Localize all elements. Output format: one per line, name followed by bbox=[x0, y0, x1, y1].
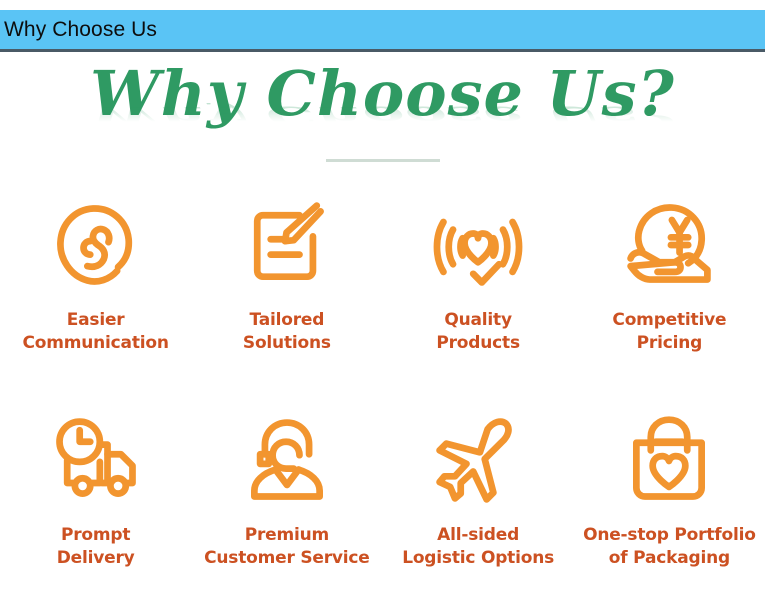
feature-item-competitive-pricing[interactable]: Competitive Pricing bbox=[574, 175, 765, 390]
feature-label: Easier Communication bbox=[22, 309, 168, 354]
feature-label: One-stop Portfolio of Packaging bbox=[583, 524, 756, 569]
ear-in-circle-icon bbox=[44, 193, 148, 297]
hero-section: Why Choose Us? Why Choose Us? bbox=[0, 55, 765, 163]
feature-label: Competitive Pricing bbox=[612, 309, 726, 354]
feature-item-tailored-solutions[interactable]: Tailored Solutions bbox=[191, 175, 382, 390]
feature-item-easier-communication[interactable]: Easier Communication bbox=[0, 175, 191, 390]
heart-signal-check-icon bbox=[426, 193, 530, 297]
headset-person-icon bbox=[235, 408, 339, 512]
window-title: Why Choose Us bbox=[0, 19, 157, 40]
hand-yen-coin-icon bbox=[617, 193, 721, 297]
feature-label: Tailored Solutions bbox=[243, 309, 331, 354]
document-pencil-icon bbox=[235, 193, 339, 297]
feature-item-prompt-delivery[interactable]: Prompt Delivery bbox=[0, 390, 191, 605]
window-header-bar: Why Choose Us bbox=[0, 10, 765, 52]
feature-item-one-stop-portfolio-of-packaging[interactable]: One-stop Portfolio of Packaging bbox=[574, 390, 765, 605]
feature-item-quality-products[interactable]: Quality Products bbox=[383, 175, 574, 390]
feature-label: All-sided Logistic Options bbox=[402, 524, 554, 569]
feature-label: Prompt Delivery bbox=[57, 524, 135, 569]
page-title: Why Choose Us? bbox=[0, 63, 765, 125]
shopping-bag-heart-icon bbox=[617, 408, 721, 512]
feature-label: Premium Customer Service bbox=[204, 524, 370, 569]
feature-item-premium-customer-service[interactable]: Premium Customer Service bbox=[191, 390, 382, 605]
feature-label: Quality Products bbox=[436, 309, 520, 354]
features-grid: Easier Communication Tailored Solutions bbox=[0, 175, 765, 605]
feature-item-all-sided-logistic-options[interactable]: All-sided Logistic Options bbox=[383, 390, 574, 605]
page-content: Why Choose Us? Why Choose Us? Easier Com… bbox=[0, 55, 765, 599]
airplane-icon bbox=[426, 408, 530, 512]
truck-clock-icon bbox=[44, 408, 148, 512]
title-divider bbox=[326, 159, 440, 162]
